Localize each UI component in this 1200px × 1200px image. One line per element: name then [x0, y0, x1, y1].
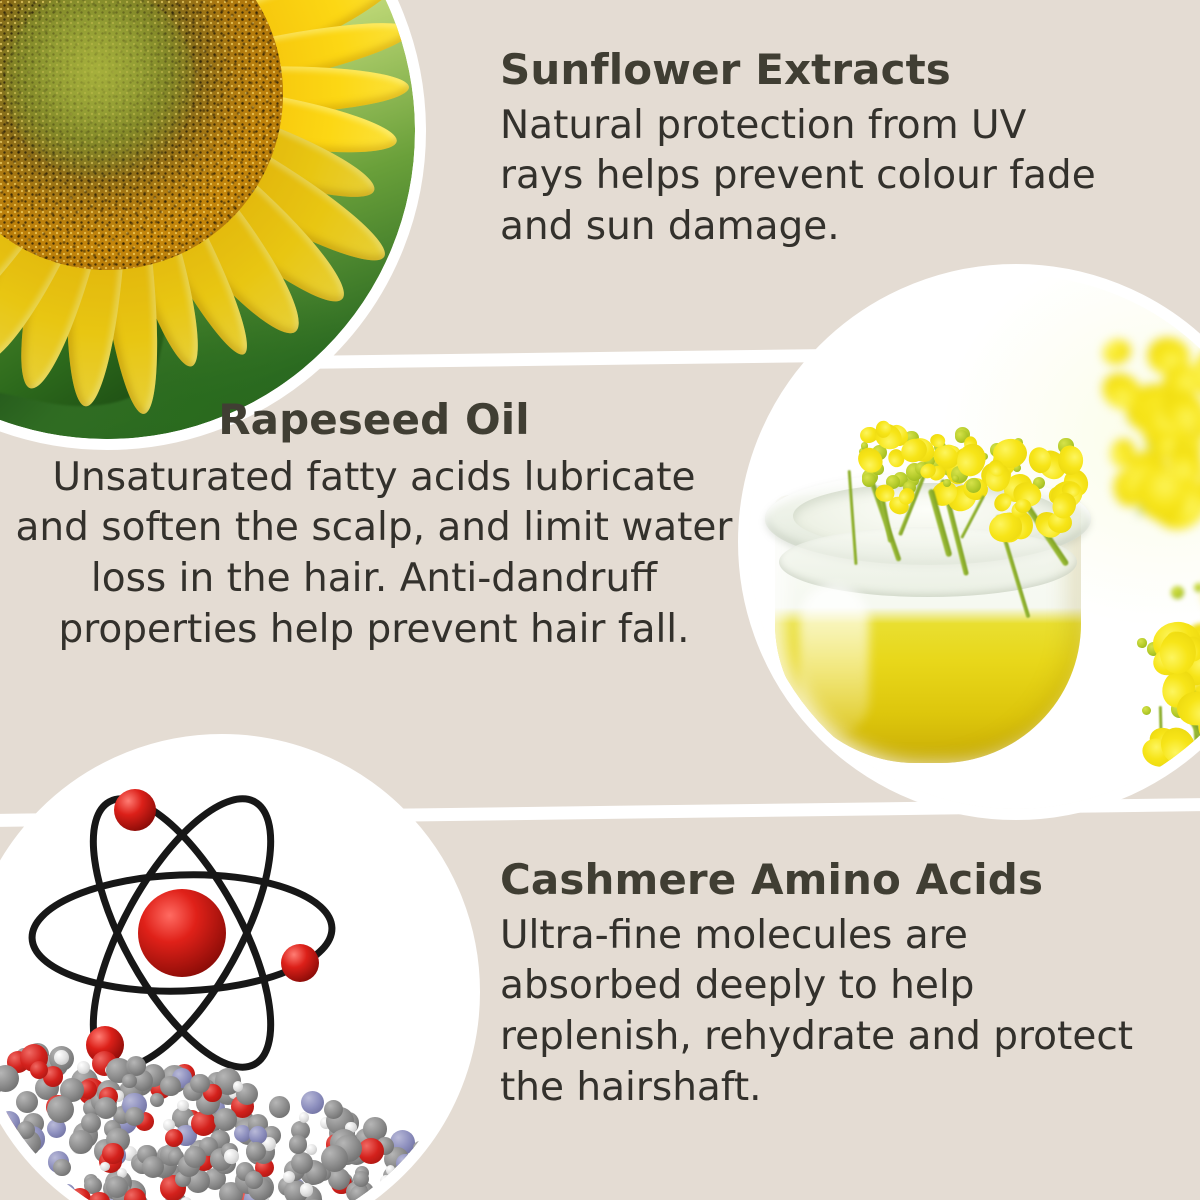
molecule-atom — [450, 1169, 469, 1193]
molecule-atom — [402, 1193, 417, 1200]
molecule-atom — [358, 1138, 384, 1164]
molecule-atom — [190, 1074, 210, 1094]
section-sunflower-text: Sunflower Extracts Natural protection fr… — [500, 48, 1110, 253]
molecule-atom — [350, 1185, 370, 1200]
molecule-atom — [125, 1107, 144, 1126]
molecule-atom — [160, 1076, 180, 1096]
section-sunflower-heading: Sunflower Extracts — [500, 48, 1110, 93]
rapeseed-bud — [1137, 638, 1146, 647]
molecule-atom — [214, 1108, 237, 1131]
section-rapeseed-body: Unsaturated fatty acids lubricate and so… — [12, 453, 736, 656]
section-cashmere-text: Cashmere Amino Acids Ultra-fine molecule… — [500, 858, 1140, 1113]
molecule-atom — [95, 1097, 117, 1119]
molecule-atom — [245, 1171, 263, 1189]
section-rapeseed-text: Rapeseed Oil Unsaturated fatty acids lub… — [12, 398, 736, 655]
molecule-atom — [246, 1142, 266, 1162]
oil-jar-highlight — [799, 585, 869, 735]
rapeseed-oil-photo — [738, 264, 1200, 820]
molecule-atom — [386, 1165, 396, 1175]
molecule-atom — [128, 1057, 146, 1075]
molecule-atom — [0, 1186, 4, 1200]
molecule-atom — [16, 1091, 38, 1113]
molecule-atom — [321, 1145, 348, 1172]
amino-acid-molecule-graphic — [0, 734, 480, 1200]
molecule-atom — [47, 1096, 74, 1123]
molecule-atom — [184, 1146, 206, 1168]
section-cashmere-body: Ultra-fine molecules are absorbed deeply… — [500, 911, 1140, 1114]
molecule-atom — [301, 1091, 324, 1114]
ingredient-benefits-panel: Sunflower Extracts Natural protection fr… — [0, 0, 1200, 1200]
rapeseed-bud — [1194, 743, 1200, 754]
molecule-atom — [224, 1149, 239, 1164]
molecule-atom — [142, 1156, 164, 1178]
ball-and-stick-model — [0, 1023, 469, 1200]
sunflower-photo — [0, 0, 426, 450]
molecule-atom — [299, 1112, 310, 1123]
rapeseed-petal — [1058, 445, 1084, 475]
molecule-atom — [289, 1135, 308, 1154]
rapeseed-bud — [966, 478, 981, 493]
molecule-atom — [53, 1159, 71, 1177]
molecule-atom — [17, 1121, 35, 1139]
rapeseed-bud — [943, 479, 951, 487]
molecule-atom — [150, 1093, 164, 1107]
molecule-atom — [324, 1100, 343, 1119]
rapeseed-bud — [862, 473, 876, 487]
molecule-atom — [122, 1074, 136, 1088]
molecule-atom — [77, 1061, 90, 1074]
molecule-atom — [300, 1183, 313, 1196]
molecule-atom — [269, 1096, 290, 1117]
section-sunflower-body: Natural protection from UV rays helps pr… — [500, 101, 1110, 253]
rapeseed-oil-photo-inner — [749, 275, 1200, 809]
molecule-atom — [14, 1174, 24, 1184]
molecule-atom — [413, 1141, 427, 1155]
molecule-atom — [69, 1130, 93, 1154]
section-cashmere-heading: Cashmere Amino Acids — [500, 858, 1140, 903]
sunflower-photo-inner — [0, 0, 415, 439]
rapeseed-bud — [1194, 583, 1200, 592]
molecule-atom — [396, 1154, 414, 1172]
rapeseed-bud — [1189, 767, 1200, 779]
section-rapeseed-heading: Rapeseed Oil — [12, 398, 736, 443]
amino-acid-graphic-inner — [0, 745, 469, 1200]
oil-jar — [765, 435, 1095, 765]
molecule-atom — [177, 1100, 188, 1111]
rapeseed-petal — [1015, 498, 1032, 512]
